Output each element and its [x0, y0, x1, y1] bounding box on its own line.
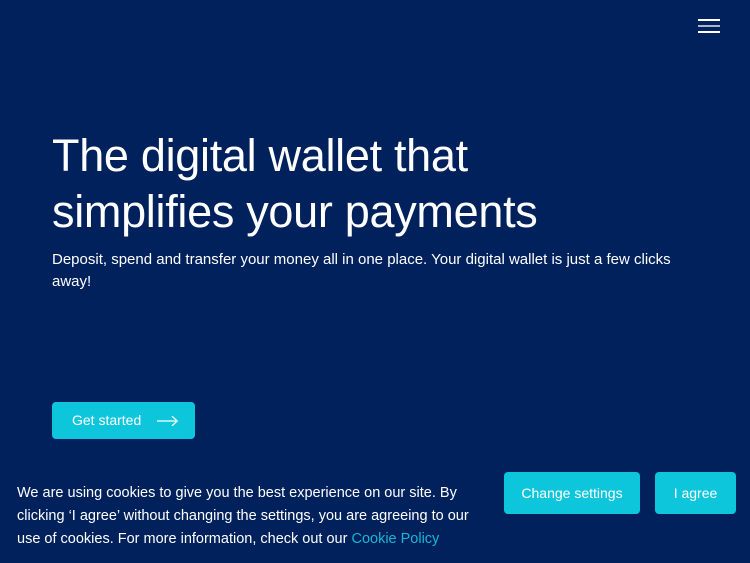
change-settings-button[interactable]: Change settings — [504, 472, 640, 514]
cookie-policy-link[interactable]: Cookie Policy — [351, 531, 439, 547]
hamburger-bar-top — [698, 19, 720, 21]
site-header — [0, 0, 750, 55]
arrow-right-icon — [157, 415, 179, 427]
i-agree-button[interactable]: I agree — [655, 472, 736, 514]
hamburger-bar-bottom — [698, 31, 720, 33]
hero-subtitle: Deposit, spend and transfer your money a… — [52, 249, 677, 293]
page-title: The digital wallet that simplifies your … — [52, 128, 662, 240]
get-started-button[interactable]: Get started — [52, 402, 195, 439]
get-started-label: Get started — [72, 402, 141, 439]
cookie-banner-text: We are using cookies to give you the bes… — [17, 482, 487, 551]
hamburger-bar-middle — [698, 25, 720, 27]
landing-page: The digital wallet that simplifies your … — [0, 0, 750, 563]
hamburger-menu-icon[interactable] — [694, 12, 724, 38]
